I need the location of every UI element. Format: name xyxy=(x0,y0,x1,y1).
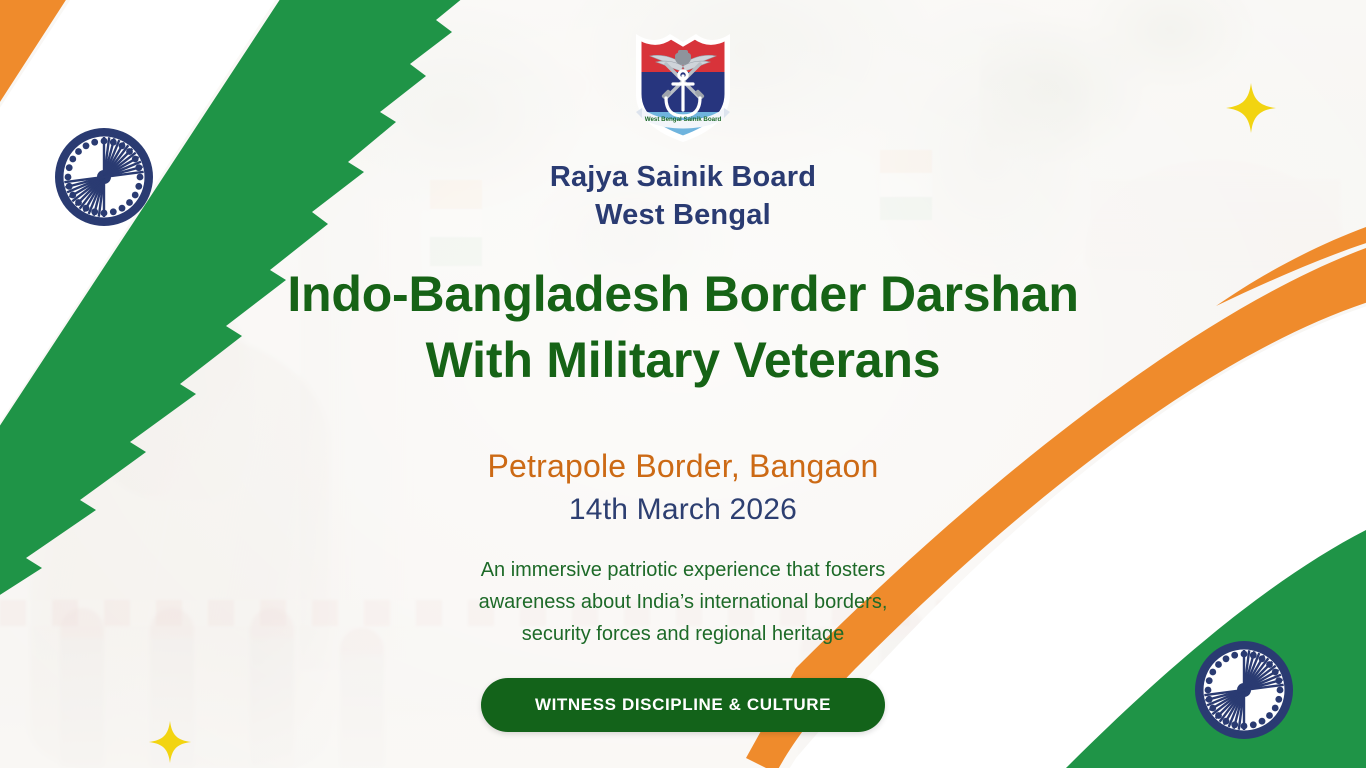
organization-name: Rajya Sainik Board West Bengal xyxy=(550,158,816,235)
event-venue: Petrapole Border, Bangaon xyxy=(487,448,878,485)
event-tagline-line1: An immersive patriotic experience that f… xyxy=(479,554,888,586)
poster-content: West Bengal Sainik Board Rajya Sainik Bo… xyxy=(0,0,1366,768)
event-tagline-line2: awareness about India’s international bo… xyxy=(479,586,888,618)
event-poster: West Bengal Sainik Board Rajya Sainik Bo… xyxy=(0,0,1366,768)
poster-title-line2: With Military Veterans xyxy=(287,327,1078,393)
event-tagline: An immersive patriotic experience that f… xyxy=(479,554,888,650)
emblem-ribbon-text: West Bengal Sainik Board xyxy=(645,116,722,123)
poster-title-line1: Indo-Bangladesh Border Darshan xyxy=(287,261,1078,327)
poster-title: Indo-Bangladesh Border Darshan With Mili… xyxy=(287,261,1078,393)
witness-discipline-culture-button[interactable]: WITNESS DISCIPLINE & CULTURE xyxy=(481,678,885,732)
event-tagline-line3: security forces and regional heritage xyxy=(479,618,888,650)
sainik-board-shield-icon: West Bengal Sainik Board xyxy=(628,28,738,146)
organization-name-line2: West Bengal xyxy=(550,196,816,234)
event-date: 14th March 2026 xyxy=(569,493,797,528)
organization-name-line1: Rajya Sainik Board xyxy=(550,158,816,196)
organization-emblem: West Bengal Sainik Board xyxy=(628,28,738,146)
